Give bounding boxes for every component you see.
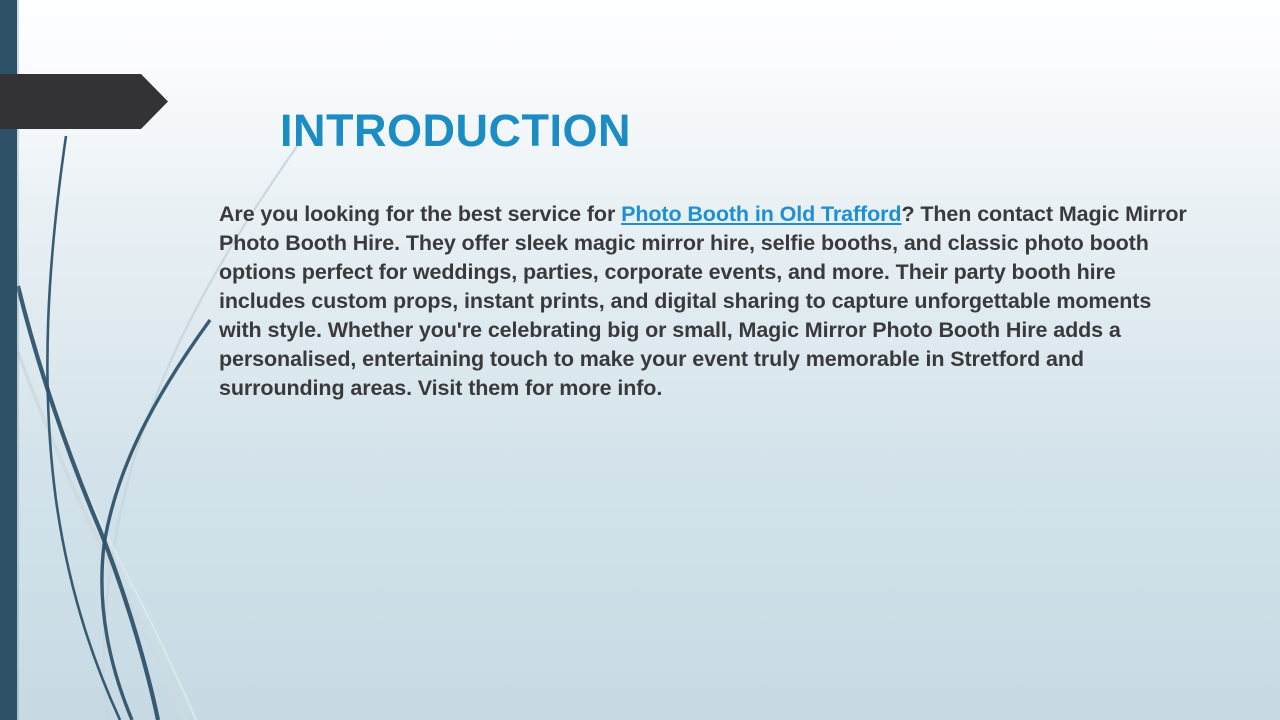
presentation-slide: INTRODUCTION Are you looking for the bes… — [0, 0, 1280, 720]
body-text-after-link: ? Then contact Magic Mirror Photo Booth … — [219, 202, 1187, 400]
photo-booth-old-trafford-link[interactable]: Photo Booth in Old Trafford — [621, 202, 901, 226]
body-paragraph: Are you looking for the best service for… — [219, 200, 1195, 403]
page-title: INTRODUCTION — [280, 100, 631, 162]
title-banner-arrow — [0, 74, 168, 129]
body-text-before-link: Are you looking for the best service for — [219, 202, 621, 226]
